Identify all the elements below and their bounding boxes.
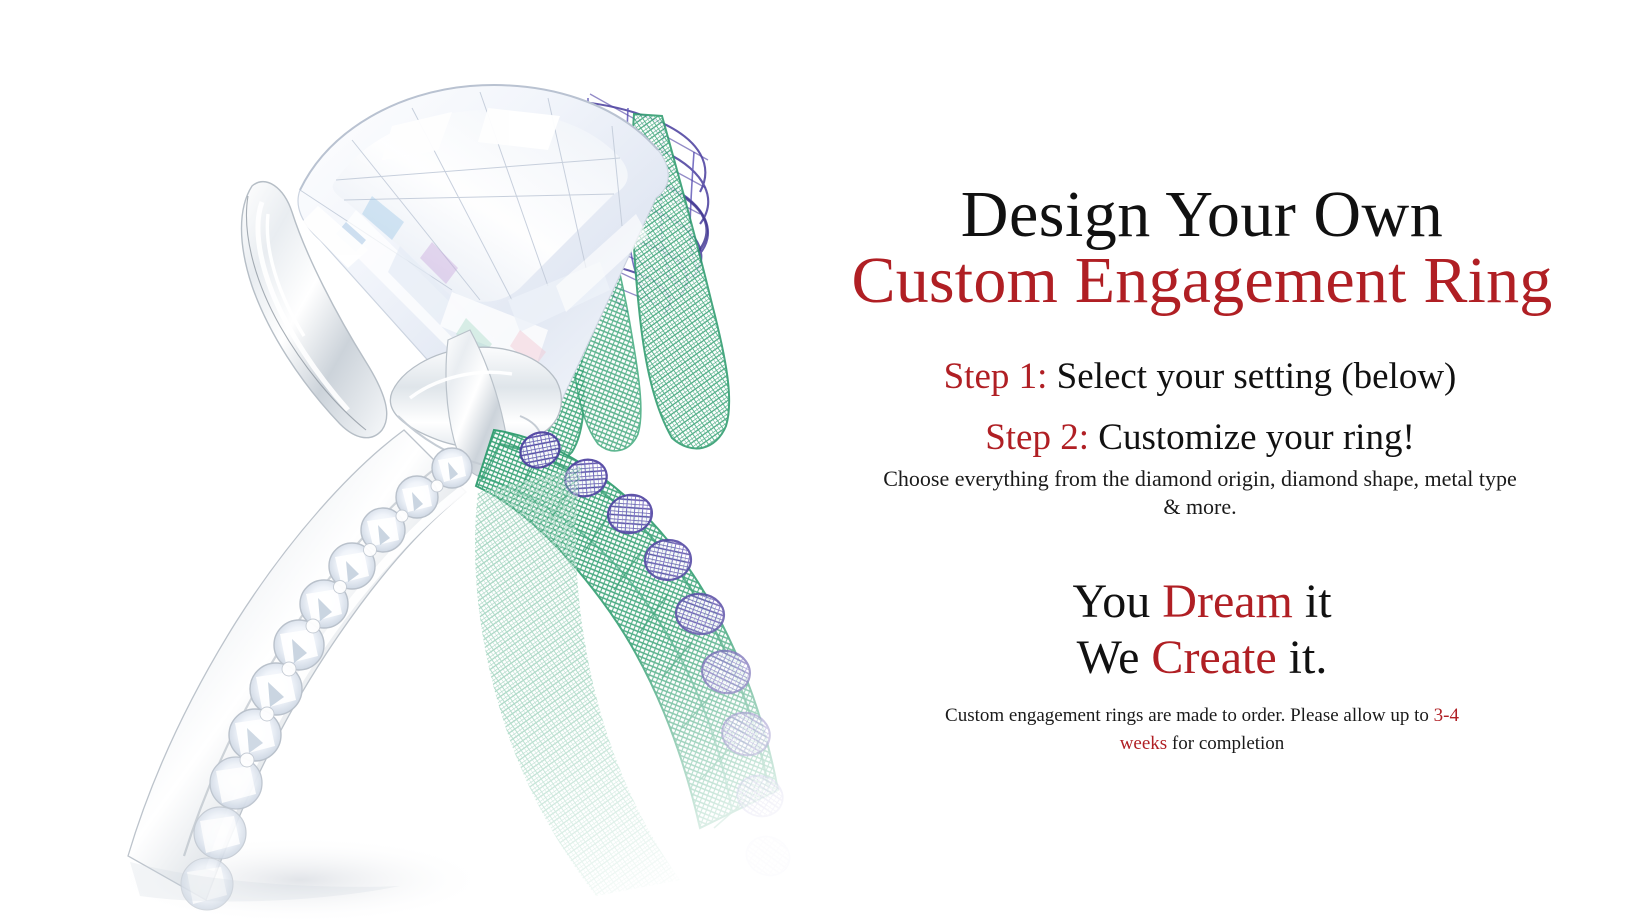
page-title-line2: Custom Engagement Ring: [770, 248, 1634, 314]
page-title-line2-text: Custom Engagement Ring: [851, 244, 1552, 317]
tagline-line2-accent: Create: [1151, 631, 1276, 684]
tagline-line2-part2: it.: [1277, 631, 1328, 684]
page-title-line1: Design Your Own: [770, 182, 1634, 248]
step-1-label: Step 1:: [944, 356, 1048, 397]
promo-copy-panel: Design Your Own Custom Engagement Ring S…: [770, 0, 1634, 921]
promo-banner: Design Your Own Custom Engagement Ring S…: [0, 0, 1634, 921]
step-2-description: Choose everything from the diamond origi…: [880, 465, 1520, 520]
tagline-line1-part1: You: [1072, 575, 1162, 628]
tagline-line1: You Dream it: [1072, 575, 1331, 628]
step-1-line: Step 1: Select your setting (below): [790, 358, 1610, 395]
step-1-text: Select your setting (below): [1047, 356, 1456, 397]
fineprint-part1: Custom engagement rings are made to orde…: [945, 705, 1434, 726]
tagline-block: You Dream it We Create it.: [770, 578, 1634, 682]
tagline-line2-part1: We: [1077, 631, 1152, 684]
tagline-line1-part2: it: [1293, 575, 1332, 628]
fineprint-part2: for completion: [1167, 733, 1284, 754]
fineprint-block: Custom engagement rings are made to orde…: [770, 702, 1634, 757]
tagline-line1-accent: Dream: [1162, 575, 1293, 628]
step-2-label: Step 2:: [985, 417, 1089, 458]
step-2-line: Step 2: Customize your ring!: [790, 419, 1610, 456]
step-2-text: Customize your ring!: [1089, 417, 1415, 458]
fineprint-text: Custom engagement rings are made to orde…: [942, 702, 1462, 757]
ring-illustration: [0, 0, 880, 921]
tagline-line2: We Create it.: [770, 634, 1634, 682]
steps-block: Step 1: Select your setting (below) Step…: [790, 358, 1610, 520]
ring-hero-artwork: [0, 0, 880, 921]
